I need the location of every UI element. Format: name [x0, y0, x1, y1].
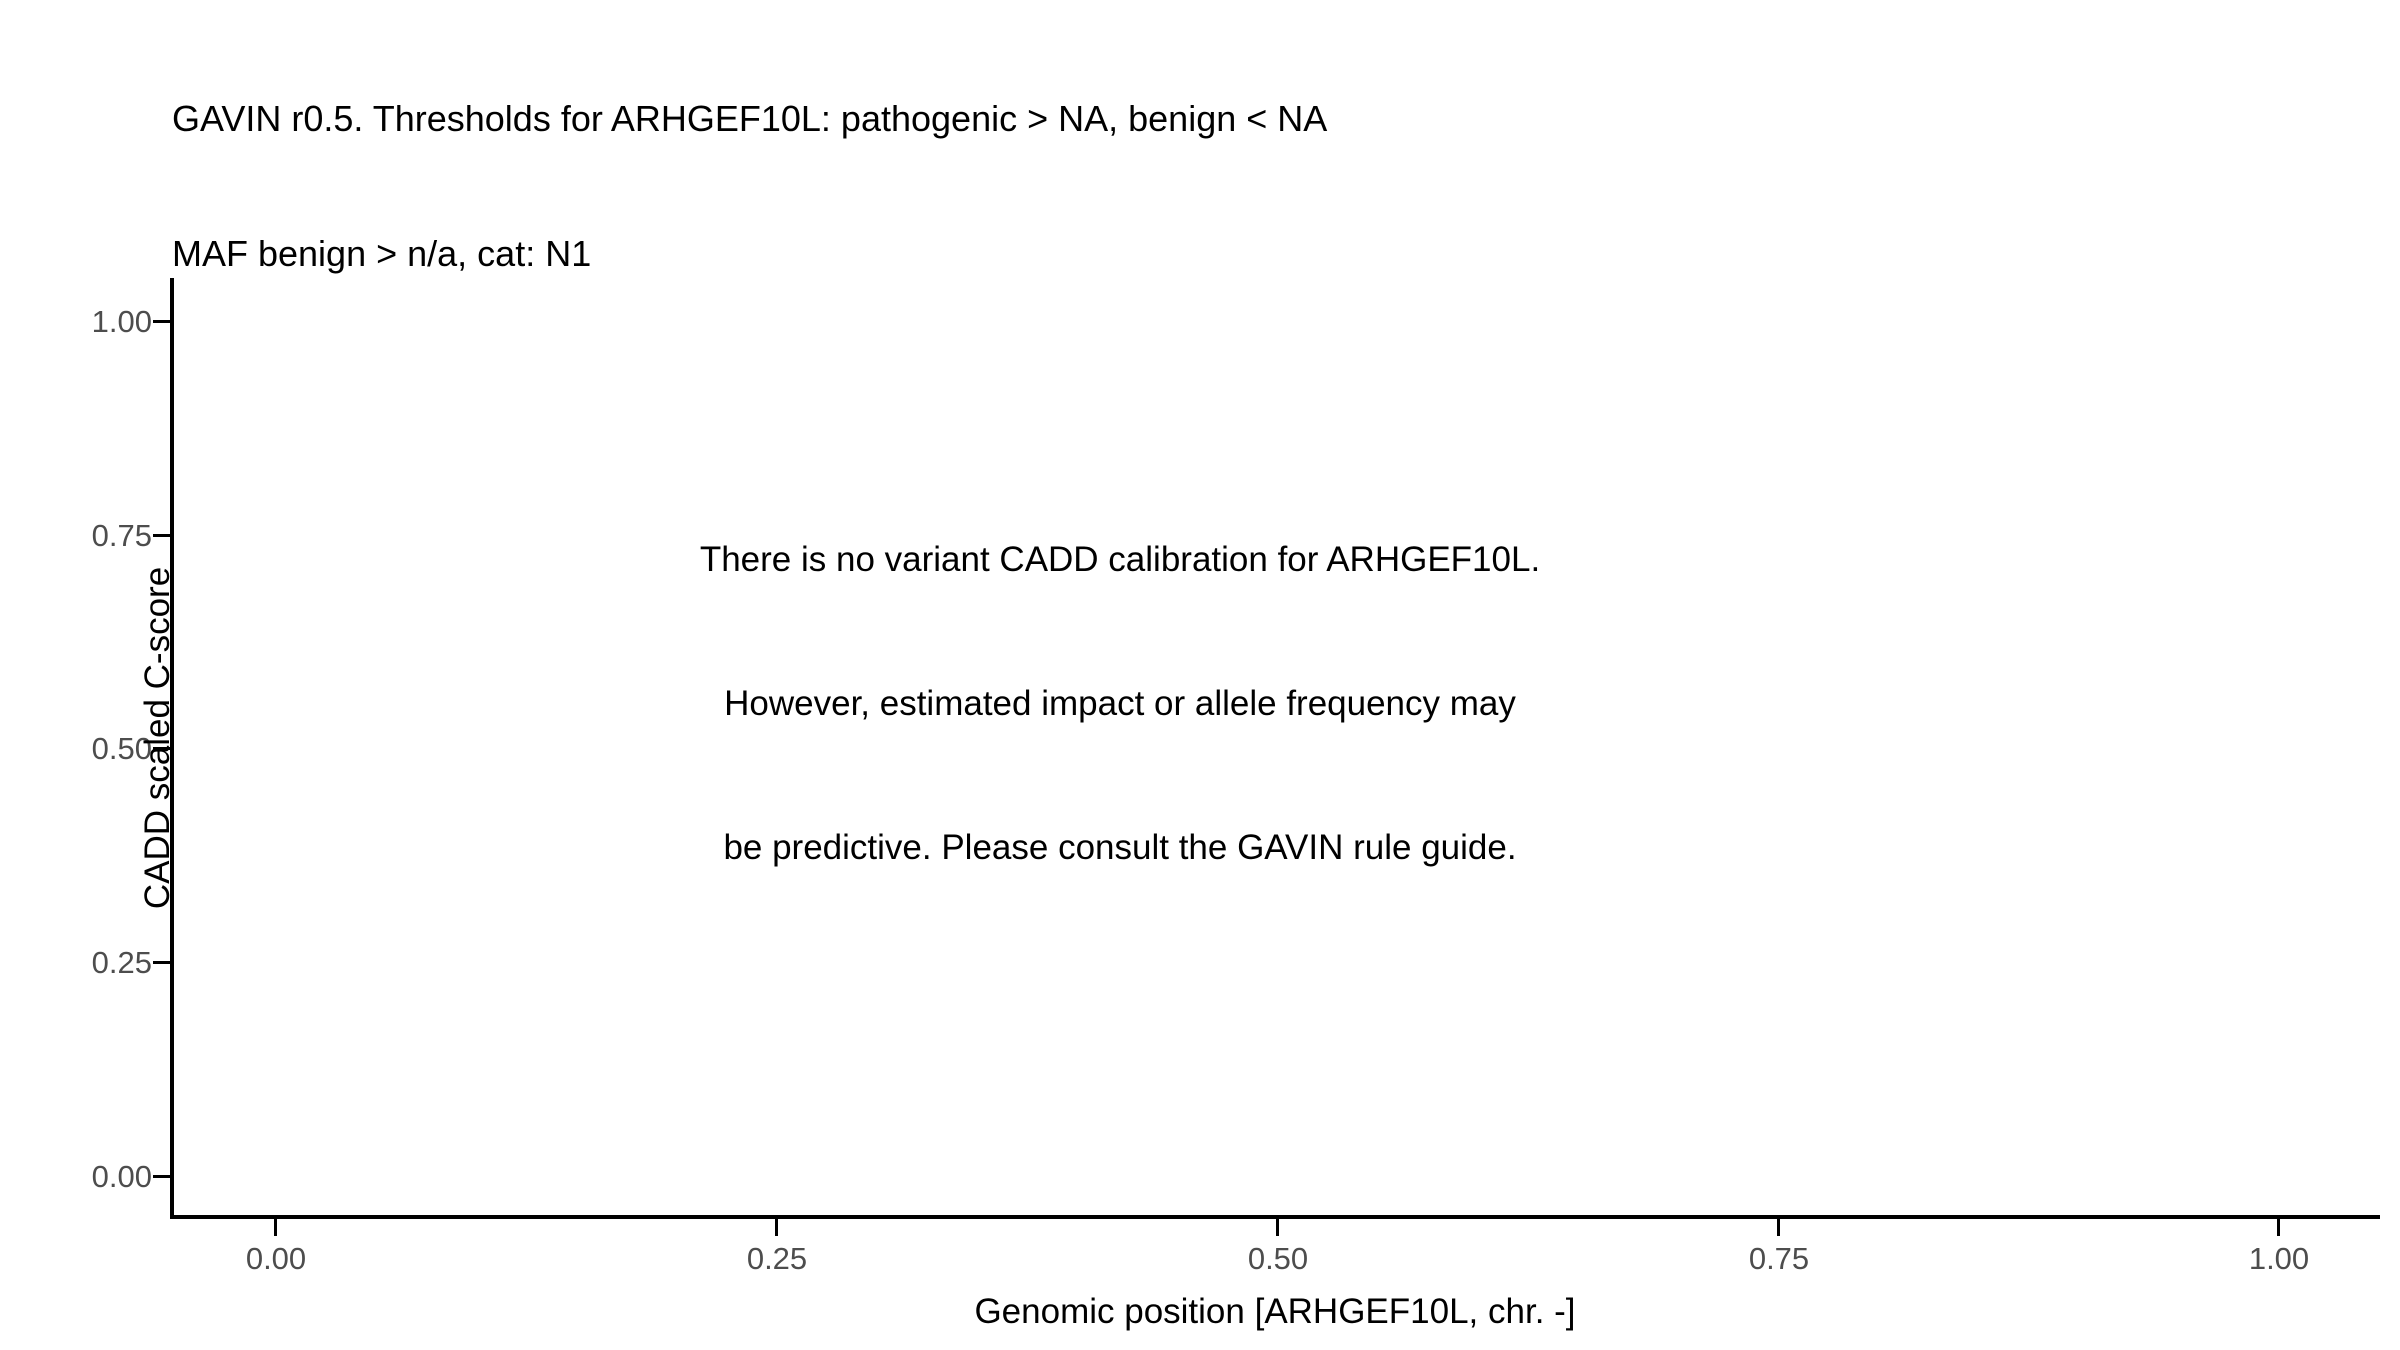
y-axis-ticklabel-4: 1.00 — [32, 306, 152, 337]
x-axis-tick-3 — [1777, 1219, 1780, 1236]
plot-panel: There is no variant CADD calibration for… — [170, 278, 2380, 1217]
no-calibration-annotation: There is no variant CADD calibration for… — [420, 440, 1820, 968]
y-axis-ticklabel-0: 0.00 — [32, 1161, 152, 1192]
annotation-line-1: There is no variant CADD calibration for… — [420, 536, 1820, 584]
chart-canvas: GAVIN r0.5. Thresholds for ARHGEF10L: pa… — [0, 0, 2400, 1350]
x-axis-title: Genomic position [ARHGEF10L, chr. -] — [170, 1292, 2380, 1332]
y-axis-title: CADD scaled C-score — [138, 268, 178, 1208]
y-axis-ticklabel-1: 0.25 — [32, 947, 152, 978]
x-axis-tick-4 — [2277, 1219, 2280, 1236]
y-axis-ticklabel-3: 0.75 — [32, 520, 152, 551]
x-axis-ticklabel-3: 0.75 — [1699, 1243, 1859, 1274]
x-axis-tick-0 — [274, 1219, 277, 1236]
chart-title-line-2: MAF benign > n/a, cat: N1 — [172, 231, 2332, 276]
x-axis-ticklabel-1: 0.25 — [697, 1243, 857, 1274]
x-axis-ticklabel-2: 0.50 — [1198, 1243, 1358, 1274]
x-axis-ticklabel-4: 1.00 — [2199, 1243, 2359, 1274]
x-axis-tick-1 — [775, 1219, 778, 1236]
chart-title-line-1: GAVIN r0.5. Thresholds for ARHGEF10L: pa… — [172, 96, 2332, 141]
x-axis-line — [170, 1215, 2380, 1219]
annotation-line-3: be predictive. Please consult the GAVIN … — [420, 824, 1820, 872]
y-axis-ticklabel-2: 0.50 — [32, 733, 152, 764]
x-axis-tick-2 — [1276, 1219, 1279, 1236]
x-axis-ticklabel-0: 0.00 — [196, 1243, 356, 1274]
annotation-line-2: However, estimated impact or allele freq… — [420, 680, 1820, 728]
